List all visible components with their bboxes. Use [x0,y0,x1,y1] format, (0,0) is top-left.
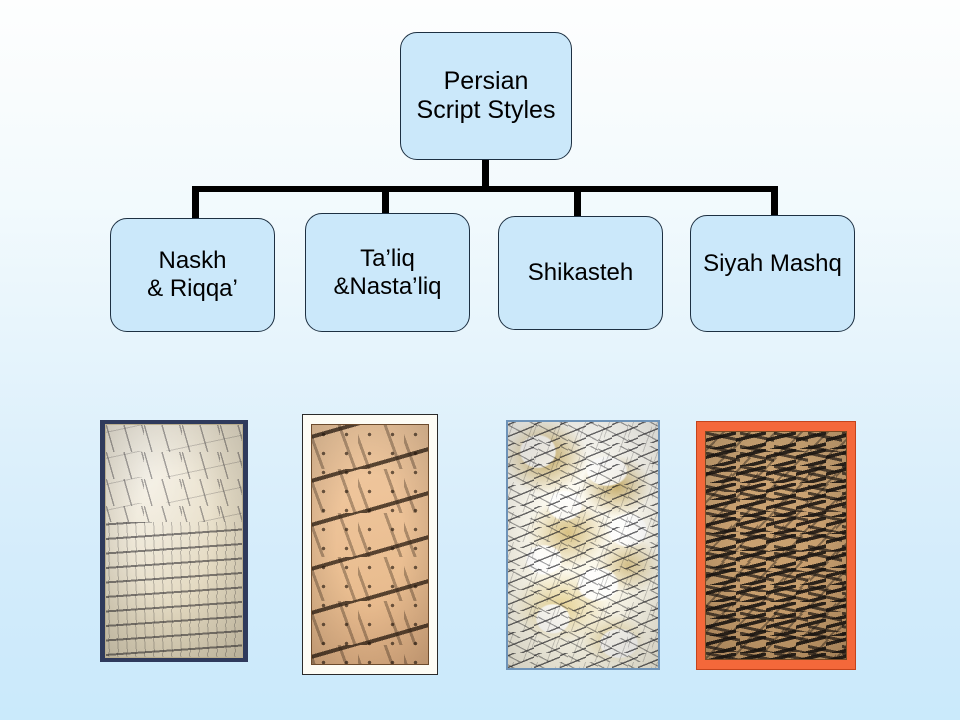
connector-drop-taliq-nastaliq [382,186,389,214]
node-root-label: Persian Script Styles [401,67,571,125]
node-root-persian-script-styles[interactable]: Persian Script Styles [400,32,572,160]
connector-root-stem [482,160,489,188]
plate-shikasteh-page [508,422,658,668]
plate-shikasteh [506,420,660,670]
node-shikasteh[interactable]: Shikasteh [498,216,663,330]
node-naskh-riqqa-label: Naskh & Riqqa’ [111,247,274,303]
page-vignette [312,425,428,664]
node-shikasteh-label: Shikasteh [499,259,662,287]
connector-drop-shikasteh [574,186,581,217]
plate-taliq-nastaliq-page [311,424,429,665]
plate-naskh-riqqa-page [105,424,243,658]
page-vignette [706,432,846,659]
connector-drop-naskh-riqqa [192,186,199,218]
node-taliq-nastaliq-label: Ta’liq &Nasta’liq [306,245,469,301]
plate-taliq-nastaliq [302,414,438,675]
node-taliq-nastaliq[interactable]: Ta’liq &Nasta’liq [305,213,470,332]
connector-drop-siyah-mashq [771,186,778,216]
plate-siyah-mashq [696,421,856,670]
plate-siyah-mashq-page [705,431,847,660]
node-siyah-mashq-label: Siyah Mashq [691,250,854,278]
node-naskh-riqqa[interactable]: Naskh & Riqqa’ [110,218,275,332]
node-siyah-mashq[interactable]: Siyah Mashq [690,215,855,332]
plate-naskh-riqqa [100,420,248,662]
slide-canvas: Persian Script Styles Naskh & Riqqa’ Ta’… [0,0,960,720]
page-vignette [106,425,242,657]
page-vignette [508,422,658,668]
connector-horizontal-bus [192,186,778,192]
